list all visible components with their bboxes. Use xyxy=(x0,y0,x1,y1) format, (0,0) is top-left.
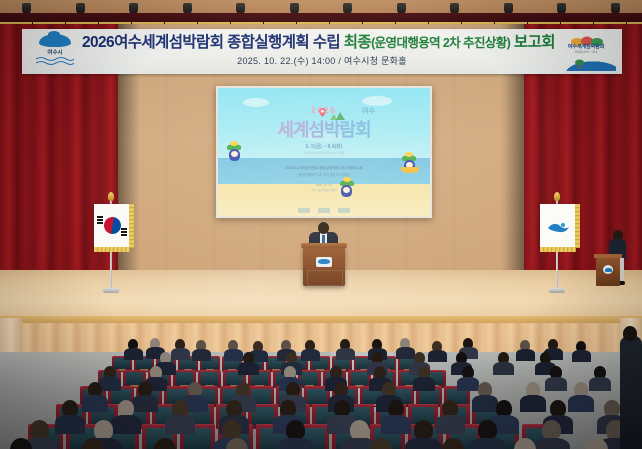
flag-finial-left xyxy=(108,192,114,201)
podium-emblem-icon xyxy=(316,257,332,267)
attendee-head xyxy=(414,420,433,440)
attendee-head xyxy=(222,420,241,440)
flag-base-left xyxy=(103,288,119,293)
slide-sponsor-logos xyxy=(218,208,430,213)
attendee-shoulders xyxy=(457,377,480,391)
attendee-shoulders xyxy=(469,438,505,449)
slide-venue: 여수세계섬박람회 개최지 여수시 일원 xyxy=(218,151,430,155)
attendee-shoulders xyxy=(428,350,447,362)
attendee-shoulders xyxy=(165,415,195,434)
attendee-shoulders xyxy=(99,377,122,391)
attendee-head xyxy=(350,420,369,440)
standing-attendee xyxy=(620,336,642,449)
projection-screen: 2026 여수 세계섬박람회 6. 5(금) ~ 8.4(화) 여수세계섬박람회… xyxy=(216,86,432,218)
korean-national-flag xyxy=(94,204,130,248)
attendee-shoulders xyxy=(516,349,535,361)
standing-attendee-head xyxy=(623,326,637,341)
expo-tree-icon xyxy=(574,57,585,68)
attendee-shoulders xyxy=(171,348,190,360)
attendee-head xyxy=(286,420,305,440)
slide-body-line4: 여수시청 문화홀 대강당 xyxy=(218,188,430,192)
event-banner: 여수시 2026여수세계섬박람회 종합실행계획 수립 최종(운영대행용역 2차 … xyxy=(22,29,622,74)
attendee-shoulders xyxy=(301,349,320,361)
attendee-head xyxy=(94,420,113,440)
slide-location: 여수 xyxy=(362,106,375,116)
attendee-shoulders xyxy=(277,438,313,449)
lectern-emblem-icon xyxy=(603,265,613,274)
speaker-podium xyxy=(303,246,345,286)
attendee-shoulders xyxy=(520,395,547,412)
slide-main-title: 세계섬박람회 xyxy=(218,116,430,142)
banner-title-paren: (운영대행용역 2차 추진상황) xyxy=(371,36,510,50)
attendee-shoulders xyxy=(132,395,159,412)
attendee-shoulders xyxy=(435,415,465,434)
attendee-shoulders xyxy=(568,395,595,412)
banner-title-tail: 보고회 xyxy=(510,34,555,51)
attendee-shoulders xyxy=(82,395,109,412)
banner-title-main: 2026여수세계섬박람회 종합실행계획 수립 xyxy=(82,34,344,51)
slide-body-line1: 2026여수세계섬박람회 종합실행계획 수립 최종보고회 xyxy=(218,166,430,171)
banner-subtitle: 2025. 10. 22.(수) 14:00 / 여수시청 문화홀 xyxy=(22,54,622,67)
attendee-head xyxy=(478,420,497,440)
stage-pillar-left xyxy=(0,318,22,356)
attendee-shoulders xyxy=(493,362,514,375)
attendee-shoulders xyxy=(111,415,141,434)
slide-body-line2: (운영대행용역 2차 추진상황 보고 포함) xyxy=(218,172,430,177)
attendee-shoulders xyxy=(381,415,411,434)
attendee-shoulders xyxy=(405,438,441,449)
attendee-shoulders xyxy=(533,438,569,449)
attendee-shoulders xyxy=(238,362,259,375)
expo-logo-icon: 여수세계섬박람회 2026.6.5 ~ 8.4 xyxy=(556,31,616,71)
attendee-shoulders xyxy=(589,377,612,391)
attendee-shoulders xyxy=(572,350,591,362)
attendee-shoulders xyxy=(192,349,211,361)
mascot-icon-center xyxy=(339,180,355,198)
attendee-head xyxy=(542,420,561,440)
attendee-head xyxy=(30,420,49,440)
attendee-shoulders xyxy=(545,377,568,391)
slide-year: 2026 xyxy=(218,106,430,115)
attendee-shoulders xyxy=(224,349,243,361)
side-lectern xyxy=(596,256,620,286)
attendee-shoulders xyxy=(55,415,85,434)
banner-title: 2026여수세계섬박람회 종합실행계획 수립 최종(운영대행용역 2차 추진상황… xyxy=(82,32,552,54)
attendee-shoulders xyxy=(124,348,143,360)
flag-finial-right xyxy=(554,192,560,201)
attendee-shoulders xyxy=(396,347,415,359)
slide-body-line3: 2025. 10. 22. xyxy=(218,183,430,187)
ceiling xyxy=(0,0,642,14)
expo-logo-label: 여수세계섬박람회 xyxy=(556,43,616,50)
mascot-icon-right xyxy=(401,155,417,173)
speaker-head xyxy=(318,222,329,234)
yeosu-city-flag xyxy=(540,204,576,248)
slide-date: 6. 5(금) ~ 8.4(화) xyxy=(218,143,430,150)
attendee-shoulders xyxy=(472,395,499,412)
flag-base-right xyxy=(549,288,565,293)
ceiling-lights xyxy=(0,0,642,14)
mascot-icon-left xyxy=(226,144,242,162)
attendee-shoulders xyxy=(336,348,355,360)
banner-title-highlight: 최종 xyxy=(344,34,371,51)
expo-logo-dates: 2026.6.5 ~ 8.4 xyxy=(556,50,616,54)
conference-photo-scene: 여수시 2026여수세계섬박람회 종합실행계획 수립 최종(운영대행용역 2차 … xyxy=(0,0,642,449)
projected-slide: 2026 여수 세계섬박람회 6. 5(금) ~ 8.4(화) 여수세계섬박람회… xyxy=(218,88,430,216)
attendee-shoulders xyxy=(413,377,436,391)
